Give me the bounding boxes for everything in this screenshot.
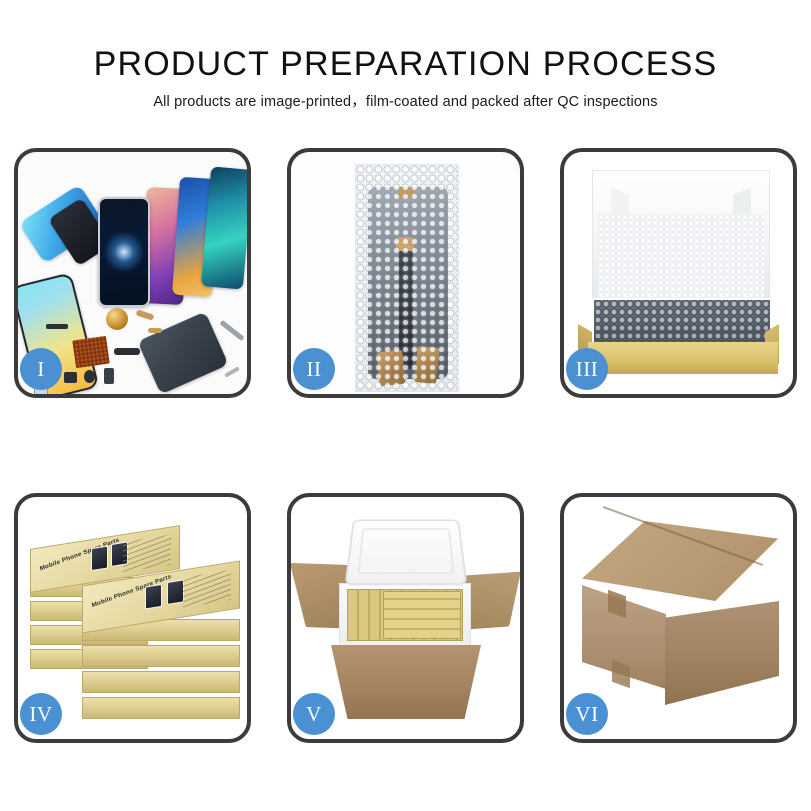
box-product-image-icon bbox=[91, 546, 108, 572]
foam-liner-icon bbox=[598, 214, 764, 298]
process-step-panel-3[interactable]: III bbox=[560, 148, 797, 398]
carton-front-icon bbox=[331, 645, 481, 719]
page-title: PRODUCT PREPARATION PROCESS bbox=[0, 44, 811, 84]
bubble-wrapped-contents-icon bbox=[594, 300, 770, 344]
connector-icon bbox=[64, 372, 77, 383]
box-spec-lines-icon bbox=[183, 570, 231, 608]
box-product-image-icon bbox=[167, 579, 184, 605]
foam-lid-icon bbox=[345, 520, 468, 586]
screwdriver-icon bbox=[224, 366, 240, 377]
process-step-panel-5[interactable]: V bbox=[287, 493, 524, 743]
screw-icon bbox=[136, 309, 155, 320]
bubble-bag-icon bbox=[355, 164, 459, 392]
process-step-panel-6[interactable]: VI bbox=[560, 493, 797, 743]
page-subtitle: All products are image-printed，film-coat… bbox=[0, 92, 811, 112]
battery-icon bbox=[104, 368, 114, 384]
box-product-image-icon bbox=[145, 584, 162, 610]
box-spec-lines-icon bbox=[123, 535, 171, 573]
process-step-panel-2[interactable]: II bbox=[287, 148, 524, 398]
stacked-box-slab bbox=[82, 697, 240, 719]
connector-icon bbox=[84, 370, 95, 383]
tape-top-icon bbox=[398, 187, 414, 198]
tweezers-icon bbox=[219, 320, 244, 341]
process-steps-grid: I II bbox=[14, 148, 797, 743]
tape-middle-icon bbox=[396, 237, 414, 251]
step-badge-3: III bbox=[566, 348, 608, 390]
step-badge-6: VI bbox=[566, 693, 608, 735]
step-badge-1: I bbox=[20, 348, 62, 390]
flex-cable-icon bbox=[46, 324, 68, 329]
step-badge-2: II bbox=[293, 348, 335, 390]
black-glass-panel-icon bbox=[98, 197, 150, 307]
gold-boxes-in-carton-icon bbox=[383, 591, 461, 639]
stacked-box-slab bbox=[82, 645, 240, 667]
screw-icon bbox=[148, 328, 162, 333]
flex-connector-left-icon bbox=[376, 350, 405, 387]
flex-cable-icon bbox=[114, 348, 140, 355]
stacked-box-slab bbox=[82, 671, 240, 693]
step-badge-4: IV bbox=[20, 693, 62, 735]
copper-grid-icon bbox=[72, 336, 110, 368]
flex-connector-right-icon bbox=[414, 346, 440, 384]
process-step-panel-4[interactable]: Mobile Phone Spare Parts Mobile Phone Sp… bbox=[14, 493, 251, 743]
phone-back-housing-icon bbox=[137, 311, 228, 394]
carton-right-face-icon bbox=[665, 601, 779, 705]
header: PRODUCT PREPARATION PROCESS All products… bbox=[0, 0, 811, 112]
product-preparation-process-page: PRODUCT PREPARATION PROCESS All products… bbox=[0, 0, 811, 811]
step-badge-5: V bbox=[293, 693, 335, 735]
gold-box-front-icon bbox=[588, 342, 778, 374]
process-step-panel-1[interactable]: I bbox=[14, 148, 251, 398]
speaker-mesh-icon bbox=[106, 308, 128, 330]
